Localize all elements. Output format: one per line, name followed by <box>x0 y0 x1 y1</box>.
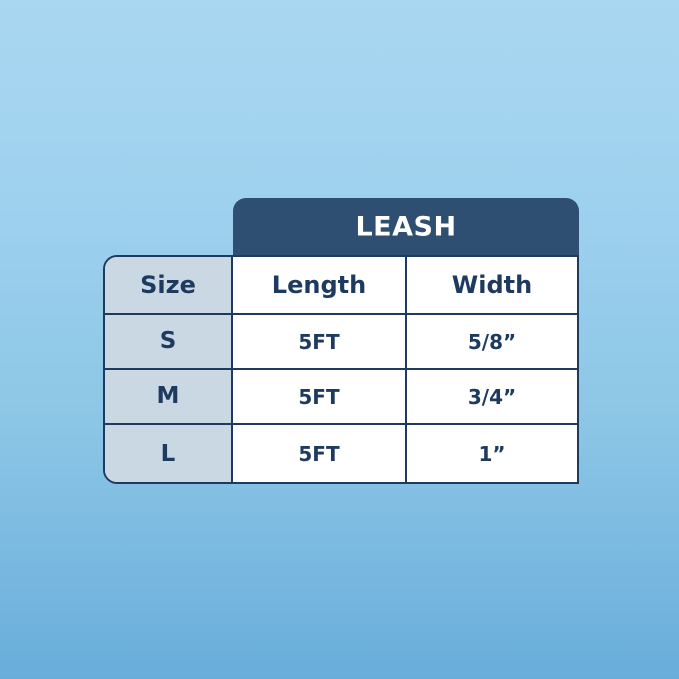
size-chart-grid: Size Length Width S 5FT 5/8” M 5FT 3/4” … <box>103 255 579 484</box>
leash-size-chart: LEASH Size Length Width S 5FT 5/8” M 5FT… <box>103 198 579 484</box>
page-canvas: LEASH Size Length Width S 5FT 5/8” M 5FT… <box>0 0 679 679</box>
chart-title: LEASH <box>233 213 579 240</box>
table-header-row: Size Length Width <box>105 257 577 315</box>
cell-length-m: 5FT <box>233 370 407 423</box>
cell-length-l: 5FT <box>233 425 407 483</box>
cell-size-m: M <box>105 370 233 423</box>
cell-width-s: 5/8” <box>407 315 577 368</box>
column-header-size: Size <box>105 257 233 313</box>
cell-width-m: 3/4” <box>407 370 577 423</box>
column-header-length: Length <box>233 257 407 313</box>
table-row: S 5FT 5/8” <box>105 315 577 370</box>
cell-size-s: S <box>105 315 233 368</box>
cell-length-s: 5FT <box>233 315 407 368</box>
column-header-width: Width <box>407 257 577 313</box>
chart-title-bar: LEASH <box>233 198 579 255</box>
cell-size-l: L <box>105 425 233 483</box>
cell-width-l: 1” <box>407 425 577 483</box>
table-row: M 5FT 3/4” <box>105 370 577 425</box>
table-row: L 5FT 1” <box>105 425 577 483</box>
